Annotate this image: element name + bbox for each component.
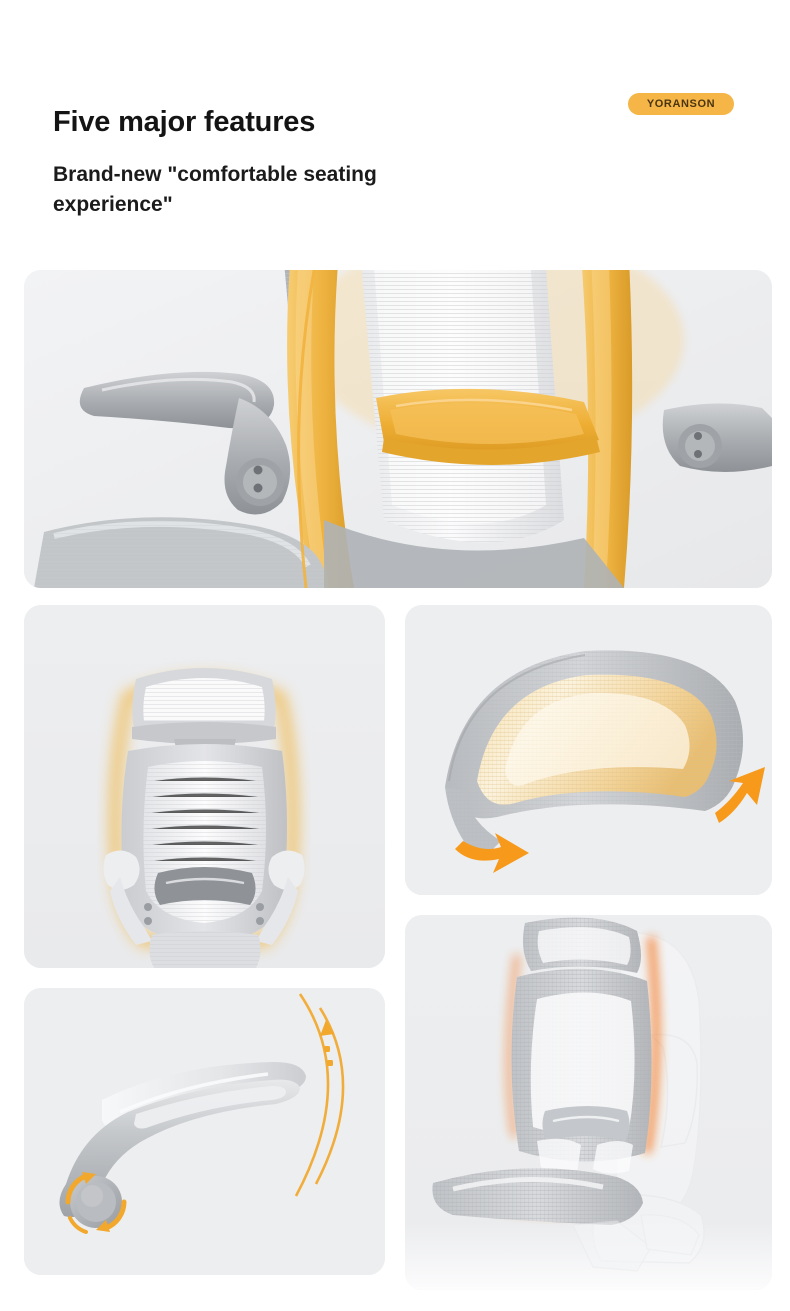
mesh-chair-image	[405, 915, 772, 1290]
headrest-image	[405, 605, 772, 895]
page-subheadline: Brand-new "comfortable seating experienc…	[53, 160, 473, 221]
product-feature-page: YORANSON Five major features Brand-new "…	[0, 0, 790, 1311]
feature-card-hero[interactable]: Comfortable and minimalist design	[24, 270, 772, 588]
backrest-chair-image	[24, 605, 385, 968]
armrest-image	[24, 988, 385, 1275]
feature-card-mesh[interactable]: All-chair breathable special mesh	[405, 915, 772, 1290]
feature-card-armrest[interactable]: 3D linked armrests	[24, 988, 385, 1275]
brand-badge: YORANSON	[628, 93, 734, 115]
brand-name: YORANSON	[647, 98, 715, 110]
feature-card-headrest[interactable]: 「头」 Wide Neck-Protecting Headrest	[405, 605, 772, 895]
feature-card-backrest[interactable]: One-Piece Large Backrest	[24, 605, 385, 968]
page-headline: Five major features	[53, 106, 315, 139]
hero-chair-image	[24, 270, 772, 588]
